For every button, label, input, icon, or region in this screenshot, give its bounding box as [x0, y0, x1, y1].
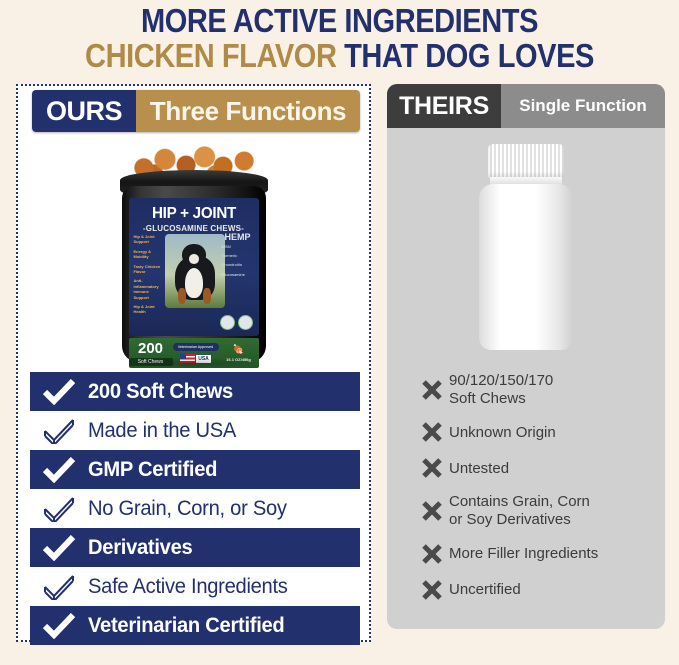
bottle-body: [479, 184, 573, 350]
jar-ingredient: Turmeric: [222, 253, 256, 258]
jar-benefit: Anti-Inflammatory Immune Support: [134, 278, 164, 300]
theirs-drawback-row: Contains Grain, Cornor Soy Derivatives: [415, 493, 655, 528]
jar-ingredient: Glucosamine: [222, 272, 256, 277]
jar-label-benefits: Hip & Joint Support Energy & Mobility Ta…: [134, 234, 164, 319]
jar-label-title: HIP + JOINT: [132, 205, 256, 223]
comparison-panels: OURS Three Functions HIP + JOINT -GLUCOS…: [0, 84, 679, 659]
dog-snout: [189, 254, 199, 264]
theirs-drawback-row: Uncertified: [415, 579, 655, 601]
x-icon: [415, 457, 449, 479]
jar-benefit: Energy & Mobility: [134, 249, 164, 260]
jar-count-number: 200: [129, 341, 173, 356]
theirs-drawback-row: Untested: [415, 457, 655, 479]
ours-feature-label: No Grain, Corn, or Soy: [88, 497, 287, 521]
jar-benefit: Hip & Joint Support: [134, 234, 164, 245]
check-icon: [30, 574, 88, 600]
vet-approved-badge: Veterinarian Approved: [173, 343, 219, 351]
theirs-drawback-label: 90/120/150/170Soft Chews: [449, 372, 553, 407]
theirs-header-value: Single Function: [501, 84, 665, 128]
ours-feature-label: Safe Active Ingredients: [88, 575, 288, 599]
x-icon: [415, 543, 449, 565]
generic-bottle: [473, 144, 579, 356]
ours-feature-row: Derivatives: [30, 528, 360, 567]
jar-label-ingredients: MSM Turmeric Chondroitin Glucosamine: [222, 244, 256, 281]
ours-panel: OURS Three Functions HIP + JOINT -GLUCOS…: [16, 84, 371, 642]
dog-photo: [165, 234, 225, 308]
check-icon: [30, 457, 88, 483]
theirs-drawback-row: 90/120/150/170Soft Chews: [415, 372, 655, 407]
chicken-icon: 🍖: [219, 345, 259, 354]
check-icon: [30, 496, 88, 522]
theirs-panel: THEIRS Single Function 90/120/150/170Sof…: [387, 84, 665, 629]
x-icon: [415, 579, 449, 601]
jar-benefit: Hip & Joint Health: [134, 304, 164, 315]
dog-leg-right: [203, 288, 211, 304]
check-icon: [30, 418, 88, 444]
theirs-drawback-label: Untested: [449, 460, 509, 478]
ours-feature-label: 200 Soft Chews: [88, 380, 233, 404]
bottle-cap: [488, 144, 564, 178]
theirs-header: THEIRS Single Function: [387, 84, 665, 128]
ours-feature-row: Veterinarian Certified: [30, 606, 360, 645]
ours-header-value: Three Functions: [136, 90, 360, 132]
jar-shadow: [130, 358, 258, 368]
ours-feature-row: No Grain, Corn, or Soy: [30, 489, 360, 528]
theirs-drawback-row: Unknown Origin: [415, 421, 655, 443]
ours-feature-row: GMP Certified: [30, 450, 360, 489]
jar-benefit: Tasty Chicken Flavor: [134, 264, 164, 275]
ours-feature-label: Derivatives: [88, 536, 192, 560]
ours-feature-list: 200 Soft Chews Made in the USA GMP Certi…: [30, 372, 360, 645]
headline: MORE ACTIVE INGREDIENTS CHICKEN FLAVOR T…: [0, 0, 679, 72]
ours-header: OURS Three Functions: [32, 90, 360, 132]
theirs-drawback-row: More Filler Ingredients: [415, 543, 655, 565]
jar-label: HIP + JOINT -GLUCOSAMINE CHEWS- +HEMP Hi…: [129, 198, 259, 336]
headline-line-1: MORE ACTIVE INGREDIENTS: [41, 4, 639, 38]
jar-ingredient: MSM: [222, 244, 256, 249]
jar-body: HIP + JOINT -GLUCOSAMINE CHEWS- +HEMP Hi…: [122, 186, 266, 362]
certification-seal-icon: [220, 315, 235, 330]
check-icon: [30, 613, 88, 639]
ours-product-image: HIP + JOINT -GLUCOSAMINE CHEWS- +HEMP Hi…: [18, 136, 369, 366]
dog-chest: [185, 268, 203, 298]
theirs-drawback-list: 90/120/150/170Soft Chews Unknown Origin …: [415, 372, 655, 615]
ours-feature-row: Safe Active Ingredients: [30, 567, 360, 606]
theirs-header-label: THEIRS: [387, 84, 501, 128]
ours-feature-row: Made in the USA: [30, 411, 360, 450]
x-icon: [415, 500, 449, 522]
theirs-drawback-label: Unknown Origin: [449, 424, 556, 442]
x-icon: [415, 379, 449, 401]
ours-header-label: OURS: [32, 90, 136, 132]
theirs-drawback-label: More Filler Ingredients: [449, 545, 598, 563]
check-icon: [30, 379, 88, 405]
quality-seal-icon: [238, 315, 253, 330]
ours-feature-label: Made in the USA: [88, 419, 236, 443]
jar-ingredient: Chondroitin: [222, 262, 256, 267]
headline-navy-text: THAT DOG LOVES: [344, 37, 594, 74]
ours-feature-label: GMP Certified: [88, 458, 217, 482]
ours-feature-row: 200 Soft Chews: [30, 372, 360, 411]
theirs-drawback-label: Contains Grain, Cornor Soy Derivatives: [449, 493, 590, 528]
x-icon: [415, 421, 449, 443]
ours-feature-label: Veterinarian Certified: [88, 614, 284, 638]
headline-line-2: CHICKEN FLAVOR THAT DOG LOVES: [41, 39, 639, 73]
theirs-drawback-label: Uncertified: [449, 581, 521, 599]
supplement-jar: HIP + JOINT -GLUCOSAMINE CHEWS- +HEMP Hi…: [118, 144, 270, 366]
theirs-product-image: [387, 132, 665, 364]
headline-gold-text: CHICKEN FLAVOR: [85, 37, 336, 74]
check-icon: [30, 535, 88, 561]
